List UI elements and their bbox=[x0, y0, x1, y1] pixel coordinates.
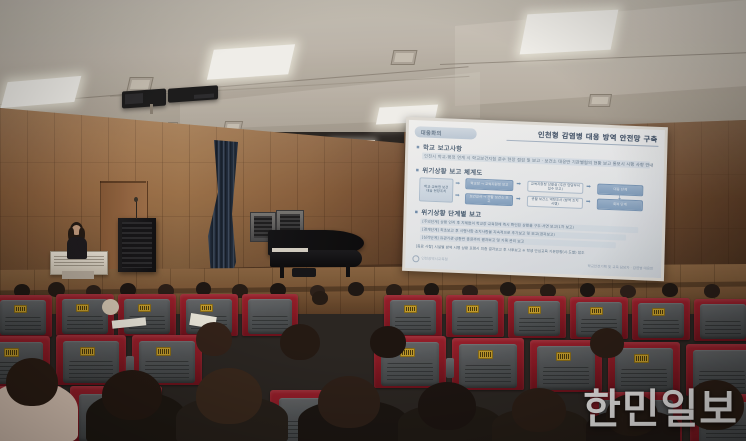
projector-mount bbox=[150, 104, 153, 114]
flow-row1-blue: 학교장 → 교육지원청 보고 bbox=[465, 178, 513, 191]
audience-head bbox=[418, 382, 476, 430]
seat-number-plate bbox=[652, 308, 665, 316]
audience-head bbox=[102, 370, 162, 420]
mic-head bbox=[134, 197, 138, 202]
ceiling-diffuser-2 bbox=[391, 50, 418, 65]
mic-stand bbox=[136, 200, 137, 219]
ceiling-light-1 bbox=[520, 10, 619, 55]
auditorium-photo: 대응화의 인천형 감염병 대응 방역 안전망 구축 학교 보고사항 인천시 학교… bbox=[0, 0, 746, 441]
seat-number-plate bbox=[466, 305, 479, 313]
slide-bullet-3: 위기상황 단계별 보고 bbox=[415, 207, 482, 219]
grand-piano bbox=[250, 206, 368, 278]
audience-head bbox=[312, 291, 328, 305]
slide-note-4: [종료 사항] 시설별 방역 시행 상황 포함시 최종 결과보고 후 사후보고 … bbox=[416, 244, 585, 256]
flow-arrow-origin-bottom: ➡ bbox=[455, 194, 460, 200]
flow-arrow-r1b: ➡ bbox=[586, 185, 591, 191]
stage-speaker-grill bbox=[122, 222, 152, 268]
stage-door-header bbox=[100, 181, 146, 183]
ceiling-projector bbox=[122, 88, 166, 108]
ceiling-diffuser-3 bbox=[588, 94, 612, 107]
stage-speaker bbox=[118, 218, 156, 272]
flow-arrow-r1a: ➡ bbox=[516, 182, 521, 188]
seat-number-plate bbox=[76, 304, 89, 312]
seat-number-plate bbox=[14, 305, 27, 313]
flow-arrow-r2b: ➡ bbox=[586, 200, 591, 206]
brand-mark-icon bbox=[412, 255, 419, 262]
audience-head bbox=[318, 376, 380, 428]
piano-leg-front bbox=[280, 264, 284, 278]
flow-row1-white: 교육지원청 상황실 (주관 담당부서 접수 보고) bbox=[527, 181, 583, 194]
slide-note-3: [심각단계] 유관기관·상황반 종료까지 결과보고 및 기록 관리 보고 bbox=[422, 235, 524, 244]
slide-footer: 학교안전기획 및 교육 담당자 · 감염병 대응반 bbox=[587, 264, 653, 272]
seat-number-plate bbox=[138, 304, 151, 312]
ceiling-light-2 bbox=[207, 44, 295, 80]
flow-row2-blue: 보건교사 → 관할 보건소 보고 bbox=[465, 193, 513, 206]
slide-brand: 인천광역시교육청 bbox=[412, 255, 448, 263]
audience-head bbox=[512, 388, 566, 432]
slide-brand-text: 인천광역시교육청 bbox=[421, 256, 448, 262]
presenter bbox=[64, 222, 90, 258]
slide-canvas: 대응화의 인천형 감염병 대응 방역 안전망 구축 학교 보고사항 인천시 학교… bbox=[405, 120, 665, 278]
audience-head bbox=[102, 299, 119, 315]
seat-number-plate bbox=[528, 306, 541, 314]
seat-number-plate bbox=[404, 305, 417, 313]
piano-keys bbox=[272, 248, 308, 252]
flow-origin-box: 학교·교육청 보건 대응 현장조치 bbox=[419, 177, 454, 202]
piano-leg-right bbox=[346, 264, 350, 277]
flow-row2-result: 회복 단계 bbox=[597, 198, 643, 211]
slide-bullet-2: 위기상황 보고 체계도 bbox=[416, 165, 483, 177]
audience-head bbox=[6, 358, 58, 406]
projector-vent-2 bbox=[194, 94, 214, 99]
slide-bullet-1: 학교 보고사항 bbox=[416, 142, 462, 153]
flow-row2-white: 관할 보건소 역학조사 (방역 조치 시행) bbox=[527, 196, 583, 209]
projection-screen: 대응화의 인천형 감염병 대응 방역 안전망 구축 학교 보고사항 인천시 학교… bbox=[402, 117, 668, 281]
piano-bench bbox=[292, 268, 316, 277]
audience-head bbox=[196, 322, 232, 356]
publisher-watermark: 한민일보 bbox=[583, 375, 738, 435]
flow-arrow-r2a: ➡ bbox=[516, 197, 521, 203]
projector-vent bbox=[125, 93, 143, 104]
seat-number-plate bbox=[200, 304, 213, 312]
slide-badge: 대응화의 bbox=[415, 126, 477, 139]
audience-head bbox=[196, 368, 262, 424]
flow-arrow-origin-top: ➡ bbox=[455, 182, 460, 188]
seat-number-plate bbox=[590, 307, 603, 315]
